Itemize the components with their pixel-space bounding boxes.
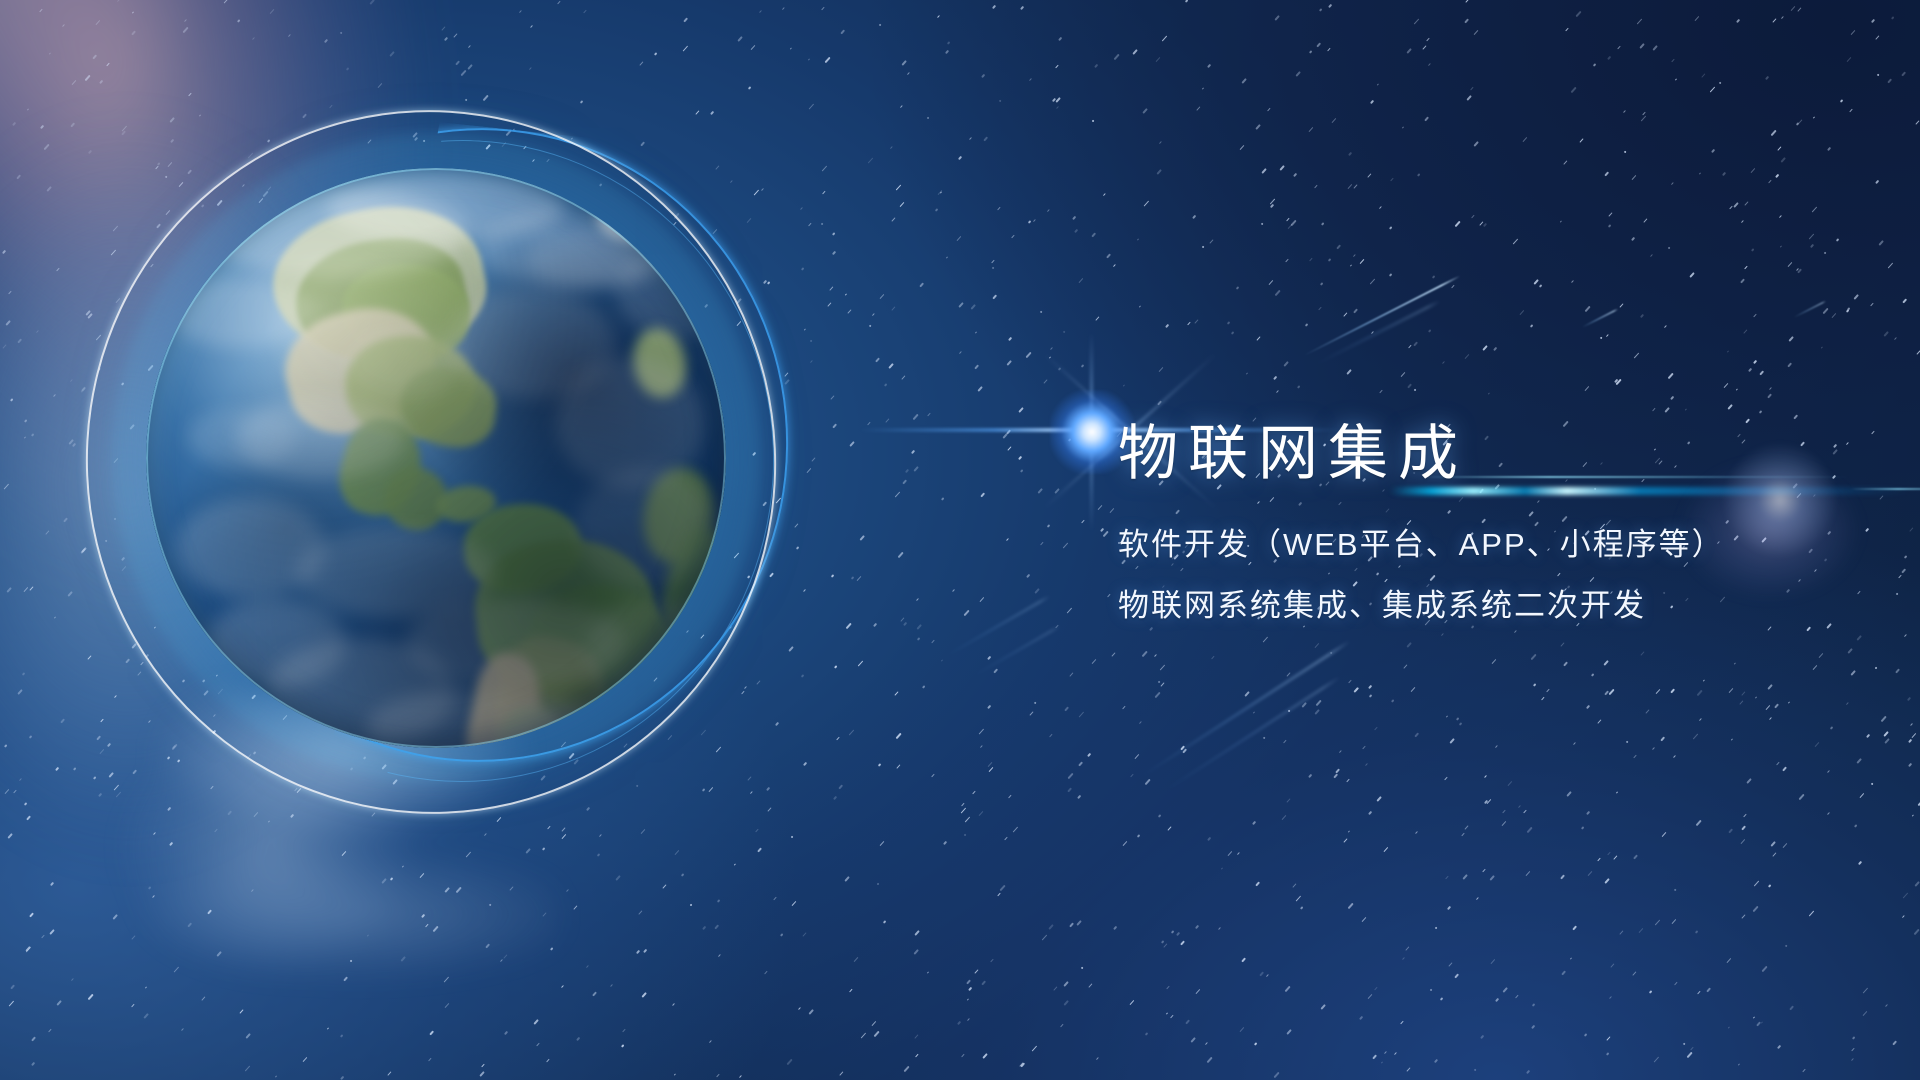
subtitle-line-1: 软件开发（WEB平台、APP、小程序等）: [1118, 529, 1878, 560]
hero-banner: 物联网集成 软件开发（WEB平台、APP、小程序等） 物联网系统集成、集成系统二…: [0, 0, 1920, 1080]
subtitle-line-2: 物联网系统集成、集成系统二次开发: [1118, 590, 1878, 621]
hero-copy: 物联网集成 软件开发（WEB平台、APP、小程序等） 物联网系统集成、集成系统二…: [1118, 420, 1878, 621]
page-title: 物联网集成: [1118, 420, 1878, 487]
